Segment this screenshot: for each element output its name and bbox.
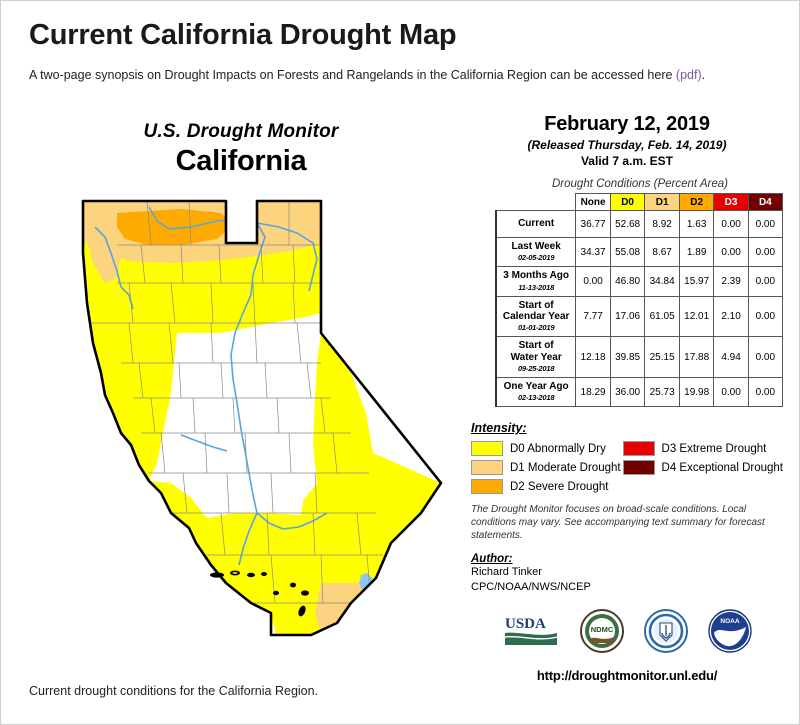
legend-label-d2: D2 Severe Drought — [510, 481, 608, 493]
table-row: Start ofWater Year09-25-201812.1839.8525… — [496, 337, 783, 378]
svg-text:USDA: USDA — [505, 616, 546, 632]
legend-label-d3: D3 Extreme Drought — [662, 443, 767, 455]
page-caption: Current drought conditions for the Calif… — [29, 684, 318, 698]
table-cell-d2: 1.89 — [679, 238, 714, 267]
table-row-label: Start ofCalendar Year01-01-2019 — [496, 296, 576, 337]
table-cell-d3: 2.39 — [714, 267, 748, 296]
table-row-date: 02-13-2018 — [518, 393, 554, 402]
table-cell-d2: 12.01 — [679, 296, 714, 337]
svg-text:NOAA: NOAA — [720, 618, 739, 625]
legend-swatch-d0 — [471, 441, 503, 456]
release-note: (Released Thursday, Feb. 14, 2019) — [471, 138, 783, 152]
table-row: 3 Months Ago11-13-20180.0046.8034.8415.9… — [496, 267, 783, 296]
intensity-column-left: D0 Abnormally DryD1 Moderate DroughtD2 S… — [471, 439, 623, 496]
ndmc-logo: NDMC — [580, 609, 624, 658]
table-row-date: 11-13-2018 — [518, 283, 554, 292]
table-cell-none: 34.37 — [576, 238, 611, 267]
table-header-row: NoneD0D1D2D3D4 — [496, 194, 783, 211]
table-cell-none: 36.77 — [576, 211, 611, 238]
table-cell-d0: 36.00 — [610, 377, 645, 406]
drought-conditions-table: NoneD0D1D2D3D4 Current36.7752.688.921.63… — [495, 193, 783, 407]
info-panel: February 12, 2019 (Released Thursday, Fe… — [471, 113, 783, 683]
monitor-disclaimer: The Drought Monitor focuses on broad-sca… — [471, 503, 783, 542]
table-cell-d4: 0.00 — [748, 377, 782, 406]
author-name: Richard Tinker — [471, 565, 783, 580]
table-cell-d0: 39.85 — [610, 337, 645, 378]
table-col-header-none: None — [576, 194, 611, 211]
table-cell-d0: 17.06 — [610, 296, 645, 337]
table-col-header-d4: D4 — [748, 194, 782, 211]
legend-label-d0: D0 Abnormally Dry — [510, 443, 606, 455]
valid-time: Valid 7 a.m. EST — [471, 154, 783, 168]
logo-row: USDA NDMC — [471, 609, 783, 659]
california-drought-map[interactable] — [21, 183, 461, 653]
table-cell-d4: 0.00 — [748, 238, 782, 267]
table-corner-cell — [496, 194, 576, 211]
table-row-date: 09-25-2018 — [518, 364, 554, 373]
legend-item-d0: D0 Abnormally Dry — [471, 439, 623, 458]
table-cell-d3: 0.00 — [714, 238, 748, 267]
release-date: February 12, 2019 — [471, 113, 783, 136]
table-cell-d1: 25.73 — [645, 377, 680, 406]
table-row: Last Week02-05-201934.3755.088.671.890.0… — [496, 238, 783, 267]
table-row-label: One Year Ago02-13-2018 — [496, 377, 576, 406]
table-cell-d1: 34.84 — [645, 267, 680, 296]
table-cell-d0: 52.68 — [610, 211, 645, 238]
drought-monitor-title: U.S. Drought Monitor — [21, 121, 461, 143]
table-body: Current36.7752.688.921.630.000.00Last We… — [496, 211, 783, 407]
table-cell-d4: 0.00 — [748, 337, 782, 378]
table-cell-d2: 19.98 — [679, 377, 714, 406]
table-cell-d1: 25.15 — [645, 337, 680, 378]
table-title: Drought Conditions (Percent Area) — [471, 178, 783, 190]
drought-monitor-url[interactable]: http://droughtmonitor.unl.edu/ — [471, 668, 783, 683]
table-cell-d4: 0.00 — [748, 267, 782, 296]
table-cell-d4: 0.00 — [748, 296, 782, 337]
table-cell-d1: 8.92 — [645, 211, 680, 238]
table-row: Start ofCalendar Year01-01-20197.7717.06… — [496, 296, 783, 337]
table-col-header-d1: D1 — [645, 194, 680, 211]
author-affiliation: CPC/NOAA/NWS/NCEP — [471, 580, 783, 595]
svg-text:NDMC: NDMC — [591, 625, 614, 634]
table-cell-d0: 46.80 — [610, 267, 645, 296]
table-row-date: 01-01-2019 — [518, 323, 554, 332]
table-col-header-d3: D3 — [714, 194, 748, 211]
table-cell-d2: 17.88 — [679, 337, 714, 378]
intensity-column-right: D3 Extreme DroughtD4 Exceptional Drought — [623, 439, 783, 496]
table-cell-none: 18.29 — [576, 377, 611, 406]
legend-item-d2: D2 Severe Drought — [471, 477, 623, 496]
table-cell-d0: 55.08 — [610, 238, 645, 267]
table-cell-none: 7.77 — [576, 296, 611, 337]
table-row-label: Last Week02-05-2019 — [496, 238, 576, 267]
legend-item-d4: D4 Exceptional Drought — [623, 458, 783, 477]
table-row-date: 02-05-2019 — [518, 253, 554, 262]
page-title: Current California Drought Map — [29, 19, 456, 52]
table-row: Current36.7752.688.921.630.000.00 — [496, 211, 783, 238]
usda-logo: USDA — [502, 611, 560, 656]
intensity-heading: Intensity: — [471, 421, 783, 435]
legend-item-d1: D1 Moderate Drought — [471, 458, 623, 477]
map-state-name: California — [21, 145, 461, 178]
legend-swatch-d4 — [623, 460, 655, 475]
intensity-legend: Intensity: D0 Abnormally DryD1 Moderate … — [471, 421, 783, 542]
table-cell-d3: 2.10 — [714, 296, 748, 337]
table-cell-d3: 4.94 — [714, 337, 748, 378]
table-cell-d4: 0.00 — [748, 211, 782, 238]
drought-map-page: Current California Drought Map A two-pag… — [0, 0, 800, 725]
legend-label-d4: D4 Exceptional Drought — [662, 462, 783, 474]
legend-swatch-d3 — [623, 441, 655, 456]
table-row: One Year Ago02-13-201818.2936.0025.7319.… — [496, 377, 783, 406]
table-row-label: Current — [496, 211, 576, 238]
table-cell-d2: 15.97 — [679, 267, 714, 296]
table-cell-none: 0.00 — [576, 267, 611, 296]
table-col-header-d2: D2 — [679, 194, 714, 211]
table-cell-d3: 0.00 — [714, 211, 748, 238]
author-heading: Author: — [471, 553, 783, 565]
table-cell-d2: 1.63 — [679, 211, 714, 238]
synopsis-text: A two-page synopsis on Drought Impacts o… — [29, 68, 705, 82]
table-row-label: Start ofWater Year09-25-2018 — [496, 337, 576, 378]
legend-swatch-d1 — [471, 460, 503, 475]
pdf-link[interactable]: (pdf) — [676, 68, 702, 82]
usda-seal-logo — [644, 609, 688, 658]
table-cell-d3: 0.00 — [714, 377, 748, 406]
table-cell-none: 12.18 — [576, 337, 611, 378]
table-cell-d1: 8.67 — [645, 238, 680, 267]
author-block: Author: Richard Tinker CPC/NOAA/NWS/NCEP — [471, 553, 783, 595]
synopsis-lead: A two-page synopsis on Drought Impacts o… — [29, 68, 676, 82]
legend-item-d3: D3 Extreme Drought — [623, 439, 783, 458]
synopsis-tail: . — [702, 68, 705, 82]
noaa-logo: NOAA — [708, 609, 752, 658]
table-row-label: 3 Months Ago11-13-2018 — [496, 267, 576, 296]
legend-label-d1: D1 Moderate Drought — [510, 462, 621, 474]
table-col-header-d0: D0 — [610, 194, 645, 211]
legend-swatch-d2 — [471, 479, 503, 494]
table-cell-d1: 61.05 — [645, 296, 680, 337]
map-panel: U.S. Drought Monitor California — [21, 111, 461, 666]
